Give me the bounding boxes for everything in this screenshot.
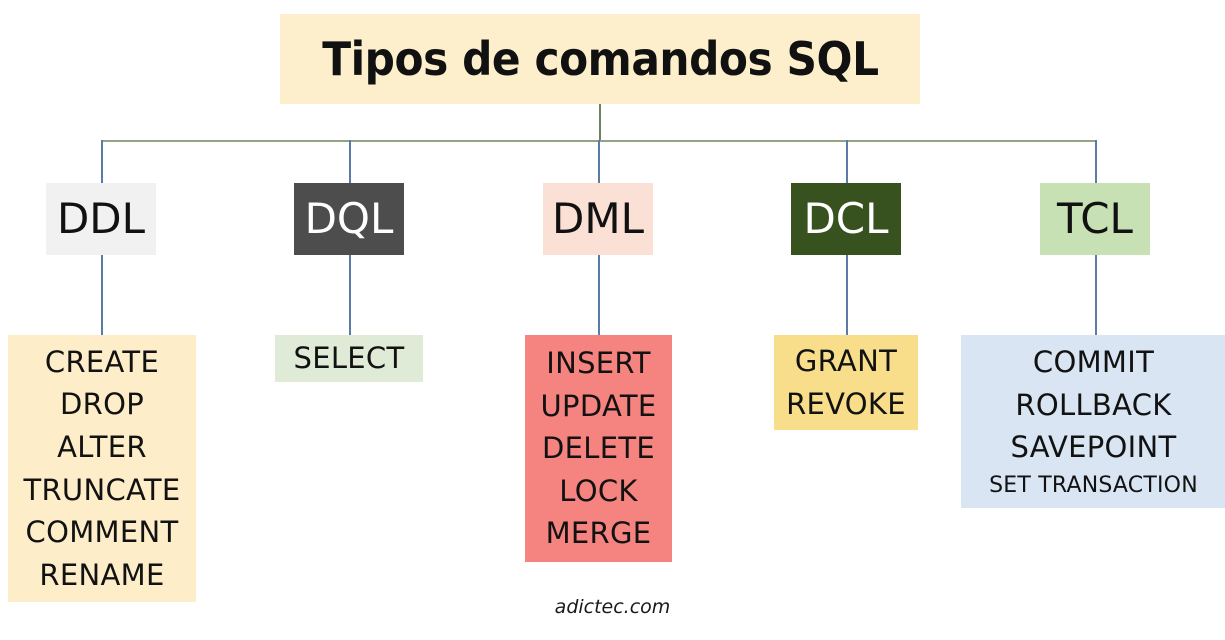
command-item: ALTER xyxy=(57,426,147,469)
command-item: DROP xyxy=(60,383,144,426)
sql-commands-diagram: Tipos de comandos SQL DDL DQL DML DCL TC… xyxy=(0,0,1225,640)
command-item: TRUNCATE xyxy=(23,469,180,512)
command-item: SAVEPOINT xyxy=(1010,426,1176,469)
commands-box-dml: INSERTUPDATEDELETELOCKMERGE xyxy=(525,335,672,562)
command-item: COMMIT xyxy=(1033,341,1154,384)
commands-box-tcl: COMMITROLLBACKSAVEPOINTSET TRANSACTION xyxy=(961,335,1225,508)
command-item: SELECT xyxy=(294,337,405,380)
connector-dcl-to-commands xyxy=(846,255,848,335)
connector-trunk xyxy=(599,104,601,142)
connector-branch-dql xyxy=(349,140,351,183)
category-label-ddl: DDL xyxy=(57,198,145,240)
commands-box-dql: SELECT xyxy=(275,335,423,382)
command-item: ROLLBACK xyxy=(1015,384,1171,427)
category-label-tcl: TCL xyxy=(1057,198,1133,240)
connector-branch-tcl xyxy=(1095,140,1097,183)
commands-box-dcl: GRANTREVOKE xyxy=(774,335,918,430)
command-item: GRANT xyxy=(795,340,897,383)
command-item: LOCK xyxy=(559,470,637,513)
category-box-dql[interactable]: DQL xyxy=(294,183,404,255)
footer-watermark: adictec.com xyxy=(0,596,1225,618)
command-item: REVOKE xyxy=(786,383,906,426)
diagram-title-box: Tipos de comandos SQL xyxy=(280,14,920,104)
category-label-dcl: DCL xyxy=(803,198,888,240)
category-box-dcl[interactable]: DCL xyxy=(791,183,901,255)
connector-branch-dml xyxy=(598,140,600,183)
connector-dql-to-commands xyxy=(349,255,351,335)
category-box-ddl[interactable]: DDL xyxy=(46,183,156,255)
command-item: DELETE xyxy=(542,427,655,470)
command-item: COMMENT xyxy=(26,511,179,554)
category-label-dml: DML xyxy=(552,198,644,240)
command-item: CREATE xyxy=(45,341,159,384)
connector-branch-dcl xyxy=(846,140,848,183)
category-box-tcl[interactable]: TCL xyxy=(1040,183,1150,255)
command-item: SET TRANSACTION xyxy=(989,469,1198,502)
command-item: MERGE xyxy=(546,512,652,555)
connector-branch-ddl xyxy=(101,140,103,183)
connector-dml-to-commands xyxy=(598,255,600,335)
connector-tcl-to-commands xyxy=(1095,255,1097,335)
page-title: Tipos de comandos SQL xyxy=(322,32,878,86)
commands-box-ddl: CREATEDROPALTERTRUNCATECOMMENTRENAME xyxy=(8,335,196,602)
command-item: UPDATE xyxy=(541,385,657,428)
category-box-dml[interactable]: DML xyxy=(543,183,653,255)
command-item: INSERT xyxy=(546,342,651,385)
connector-ddl-to-commands xyxy=(101,255,103,335)
category-label-dql: DQL xyxy=(305,198,394,240)
command-item: RENAME xyxy=(39,554,164,597)
